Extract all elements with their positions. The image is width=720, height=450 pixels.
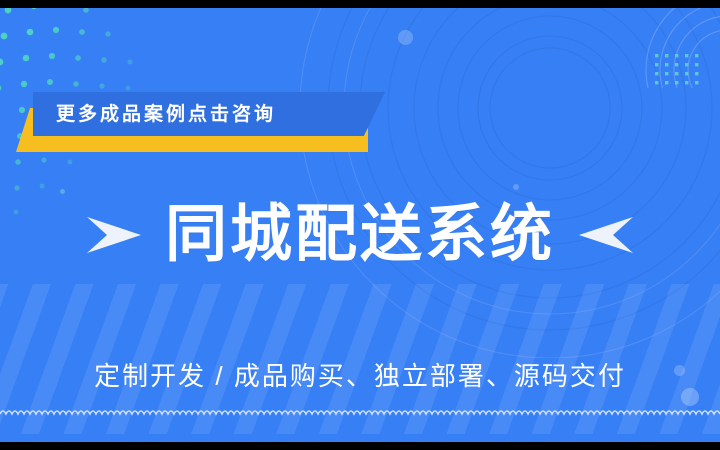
headline-row: 同城配送系统 — [0, 194, 720, 276]
scalloped-wave-line-icon — [0, 404, 720, 414]
tagline: 定制开发 / 成品购买、独立部署、源码交付 — [0, 363, 720, 389]
decor-dot — [513, 184, 519, 190]
poster-canvas: 更多成品案例点击咨询 同城配送系统 定制开发 / 成品购买、独立部署、源码交付 — [0, 8, 720, 442]
diagonal-stripes-icon — [0, 284, 720, 434]
concentric-circles-icon — [300, 8, 720, 358]
ribbon-label: 更多成品案例点击咨询 — [33, 105, 276, 124]
promo-ribbon[interactable]: 更多成品案例点击咨询 — [0, 92, 400, 154]
page-title: 同城配送系统 — [165, 204, 555, 266]
chevron-right-arrow-icon — [85, 207, 143, 263]
decor-dot — [681, 388, 699, 406]
corner-arcs-icon — [610, 8, 720, 88]
poster-stage: 更多成品案例点击咨询 同城配送系统 定制开发 / 成品购买、独立部署、源码交付 — [0, 0, 720, 450]
chevron-left-arrow-icon — [577, 207, 635, 263]
decor-dot — [398, 30, 413, 45]
square-grid-icon — [655, 54, 715, 94]
ribbon-plate: 更多成品案例点击咨询 — [33, 92, 385, 136]
